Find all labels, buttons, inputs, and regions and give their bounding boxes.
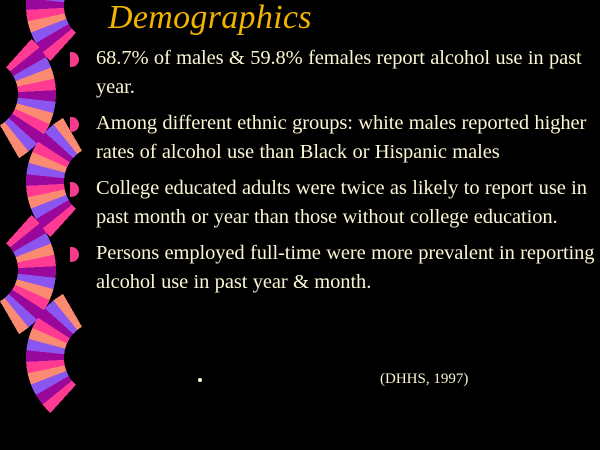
list-item: Among different ethnic groups: white mal… bbox=[66, 109, 600, 167]
bullet-list: 68.7% of males & 59.8% females report al… bbox=[66, 44, 600, 304]
page-title: Demographics bbox=[108, 0, 312, 38]
citation-label: (DHHS, 1997) bbox=[380, 368, 468, 390]
presentation-slide: Demographics 68.7% of males & 59.8% fema… bbox=[0, 0, 600, 450]
list-item-label: College educated adults were twice as li… bbox=[96, 177, 587, 228]
list-item: 68.7% of males & 59.8% females report al… bbox=[66, 44, 600, 102]
half-disc-bullet-icon bbox=[70, 52, 79, 67]
citation-row: (DHHS, 1997) bbox=[0, 368, 600, 396]
list-item-label: Among different ethnic groups: white mal… bbox=[96, 112, 586, 163]
half-disc-bullet-icon bbox=[70, 117, 79, 132]
list-item-label: Persons employed full-time were more pre… bbox=[96, 242, 594, 293]
list-item-label: 68.7% of males & 59.8% females report al… bbox=[96, 47, 582, 98]
list-item: Persons employed full-time were more pre… bbox=[66, 239, 600, 297]
dot-bullet-icon bbox=[198, 378, 202, 382]
half-disc-bullet-icon bbox=[70, 182, 79, 197]
list-item: College educated adults were twice as li… bbox=[66, 174, 600, 232]
half-disc-bullet-icon bbox=[70, 247, 79, 262]
